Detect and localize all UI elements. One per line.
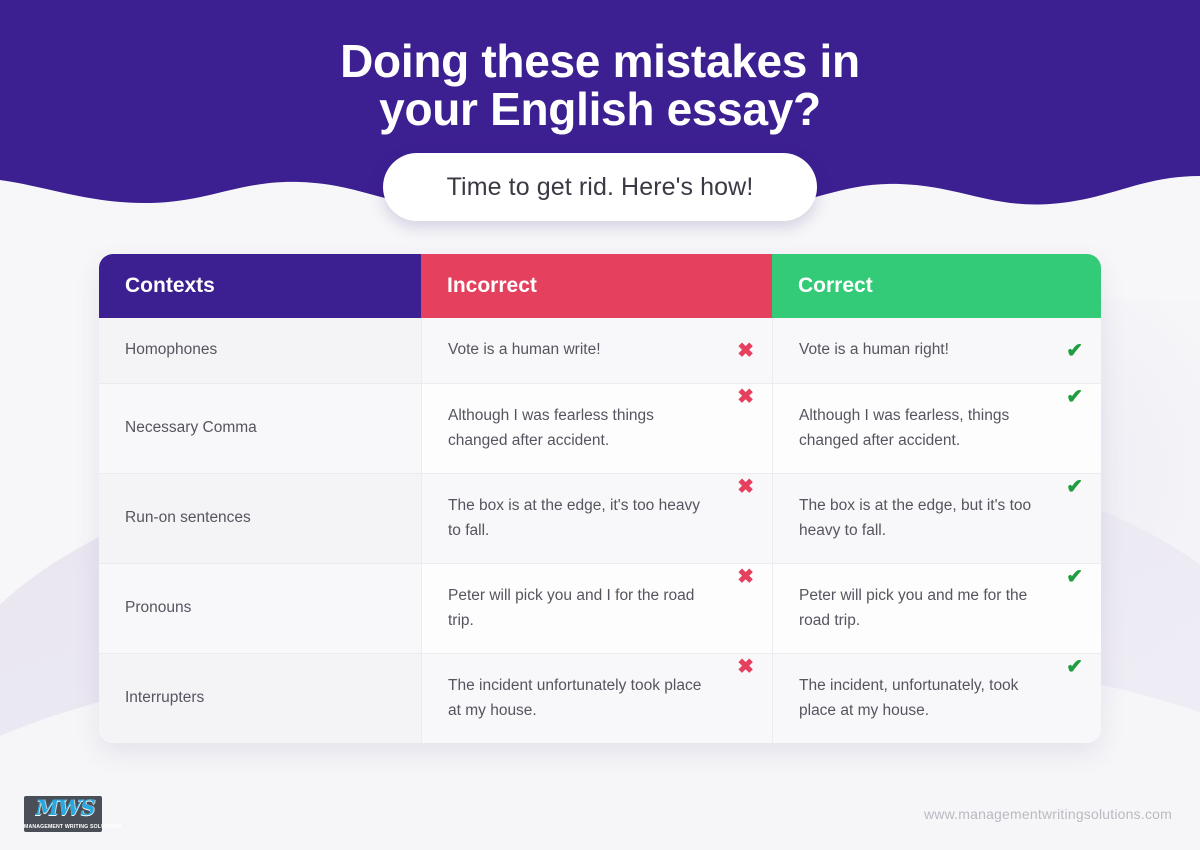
- logo-tagline: Management Writing Solutions: [24, 824, 102, 830]
- table-row: Interrupters The incident unfortunately …: [99, 654, 1101, 743]
- page-title-line-2: your English essay?: [0, 86, 1200, 134]
- column-header-contexts: Contexts: [99, 254, 421, 318]
- footer-website-url[interactable]: www.managementwritingsolutions.com: [924, 806, 1172, 822]
- cell-incorrect-text: Vote is a human write!: [448, 338, 601, 362]
- cell-correct: The incident, unfortunately, took place …: [772, 654, 1101, 743]
- cell-incorrect-text: The box is at the edge, it's too heavy t…: [448, 494, 703, 542]
- cell-correct: Peter will pick you and me for the road …: [772, 564, 1101, 653]
- column-header-correct: Correct: [772, 254, 1101, 318]
- cell-context: Interrupters: [99, 654, 421, 743]
- cell-correct: Although I was fearless, things changed …: [772, 384, 1101, 473]
- cell-correct-text: Although I was fearless, things changed …: [799, 404, 1054, 452]
- check-icon: ✔: [1066, 477, 1083, 497]
- cell-incorrect: Vote is a human write! ✖: [421, 318, 772, 383]
- check-icon: ✔: [1066, 657, 1083, 677]
- table-header-row: Contexts Incorrect Correct: [99, 254, 1101, 318]
- subtitle-text: Time to get rid. Here's how!: [447, 173, 754, 202]
- check-icon: ✔: [1066, 341, 1083, 361]
- cell-incorrect-text: The incident unfortunately took place at…: [448, 674, 703, 722]
- page-title: Doing these mistakes in your English ess…: [0, 38, 1200, 134]
- table-row: Homophones Vote is a human write! ✖ Vote…: [99, 318, 1101, 384]
- cell-incorrect-text: Although I was fearless things changed a…: [448, 404, 703, 452]
- cell-correct: Vote is a human right! ✔: [772, 318, 1101, 383]
- cross-icon: ✖: [737, 341, 754, 361]
- check-icon: ✔: [1066, 387, 1083, 407]
- comparison-table: Contexts Incorrect Correct Homophones Vo…: [99, 254, 1101, 743]
- cell-correct-text: Peter will pick you and me for the road …: [799, 584, 1054, 632]
- cell-context: Pronouns: [99, 564, 421, 653]
- cell-correct-text: Vote is a human right!: [799, 338, 949, 362]
- page-title-line-1: Doing these mistakes in: [0, 38, 1200, 86]
- cell-incorrect: The incident unfortunately took place at…: [421, 654, 772, 743]
- cell-incorrect: Although I was fearless things changed a…: [421, 384, 772, 473]
- cell-correct-text: The box is at the edge, but it's too hea…: [799, 494, 1054, 542]
- cross-icon: ✖: [737, 387, 754, 407]
- cross-icon: ✖: [737, 477, 754, 497]
- table-row: Run-on sentences The box is at the edge,…: [99, 474, 1101, 564]
- brand-logo[interactable]: MWS Management Writing Solutions: [24, 796, 102, 832]
- cell-incorrect-text: Peter will pick you and I for the road t…: [448, 584, 703, 632]
- table-row: Pronouns Peter will pick you and I for t…: [99, 564, 1101, 654]
- subtitle-pill: Time to get rid. Here's how!: [383, 153, 817, 221]
- cell-incorrect: The box is at the edge, it's too heavy t…: [421, 474, 772, 563]
- column-header-incorrect: Incorrect: [421, 254, 772, 318]
- cell-context: Run-on sentences: [99, 474, 421, 563]
- cell-context: Homophones: [99, 318, 421, 383]
- logo-wordmark: MWS: [28, 795, 102, 820]
- cell-context: Necessary Comma: [99, 384, 421, 473]
- cell-correct: The box is at the edge, but it's too hea…: [772, 474, 1101, 563]
- check-icon: ✔: [1066, 567, 1083, 587]
- cross-icon: ✖: [737, 567, 754, 587]
- page-footer: MWS Management Writing Solutions www.man…: [0, 772, 1200, 850]
- table-row: Necessary Comma Although I was fearless …: [99, 384, 1101, 474]
- cross-icon: ✖: [737, 657, 754, 677]
- cell-correct-text: The incident, unfortunately, took place …: [799, 674, 1054, 722]
- cell-incorrect: Peter will pick you and I for the road t…: [421, 564, 772, 653]
